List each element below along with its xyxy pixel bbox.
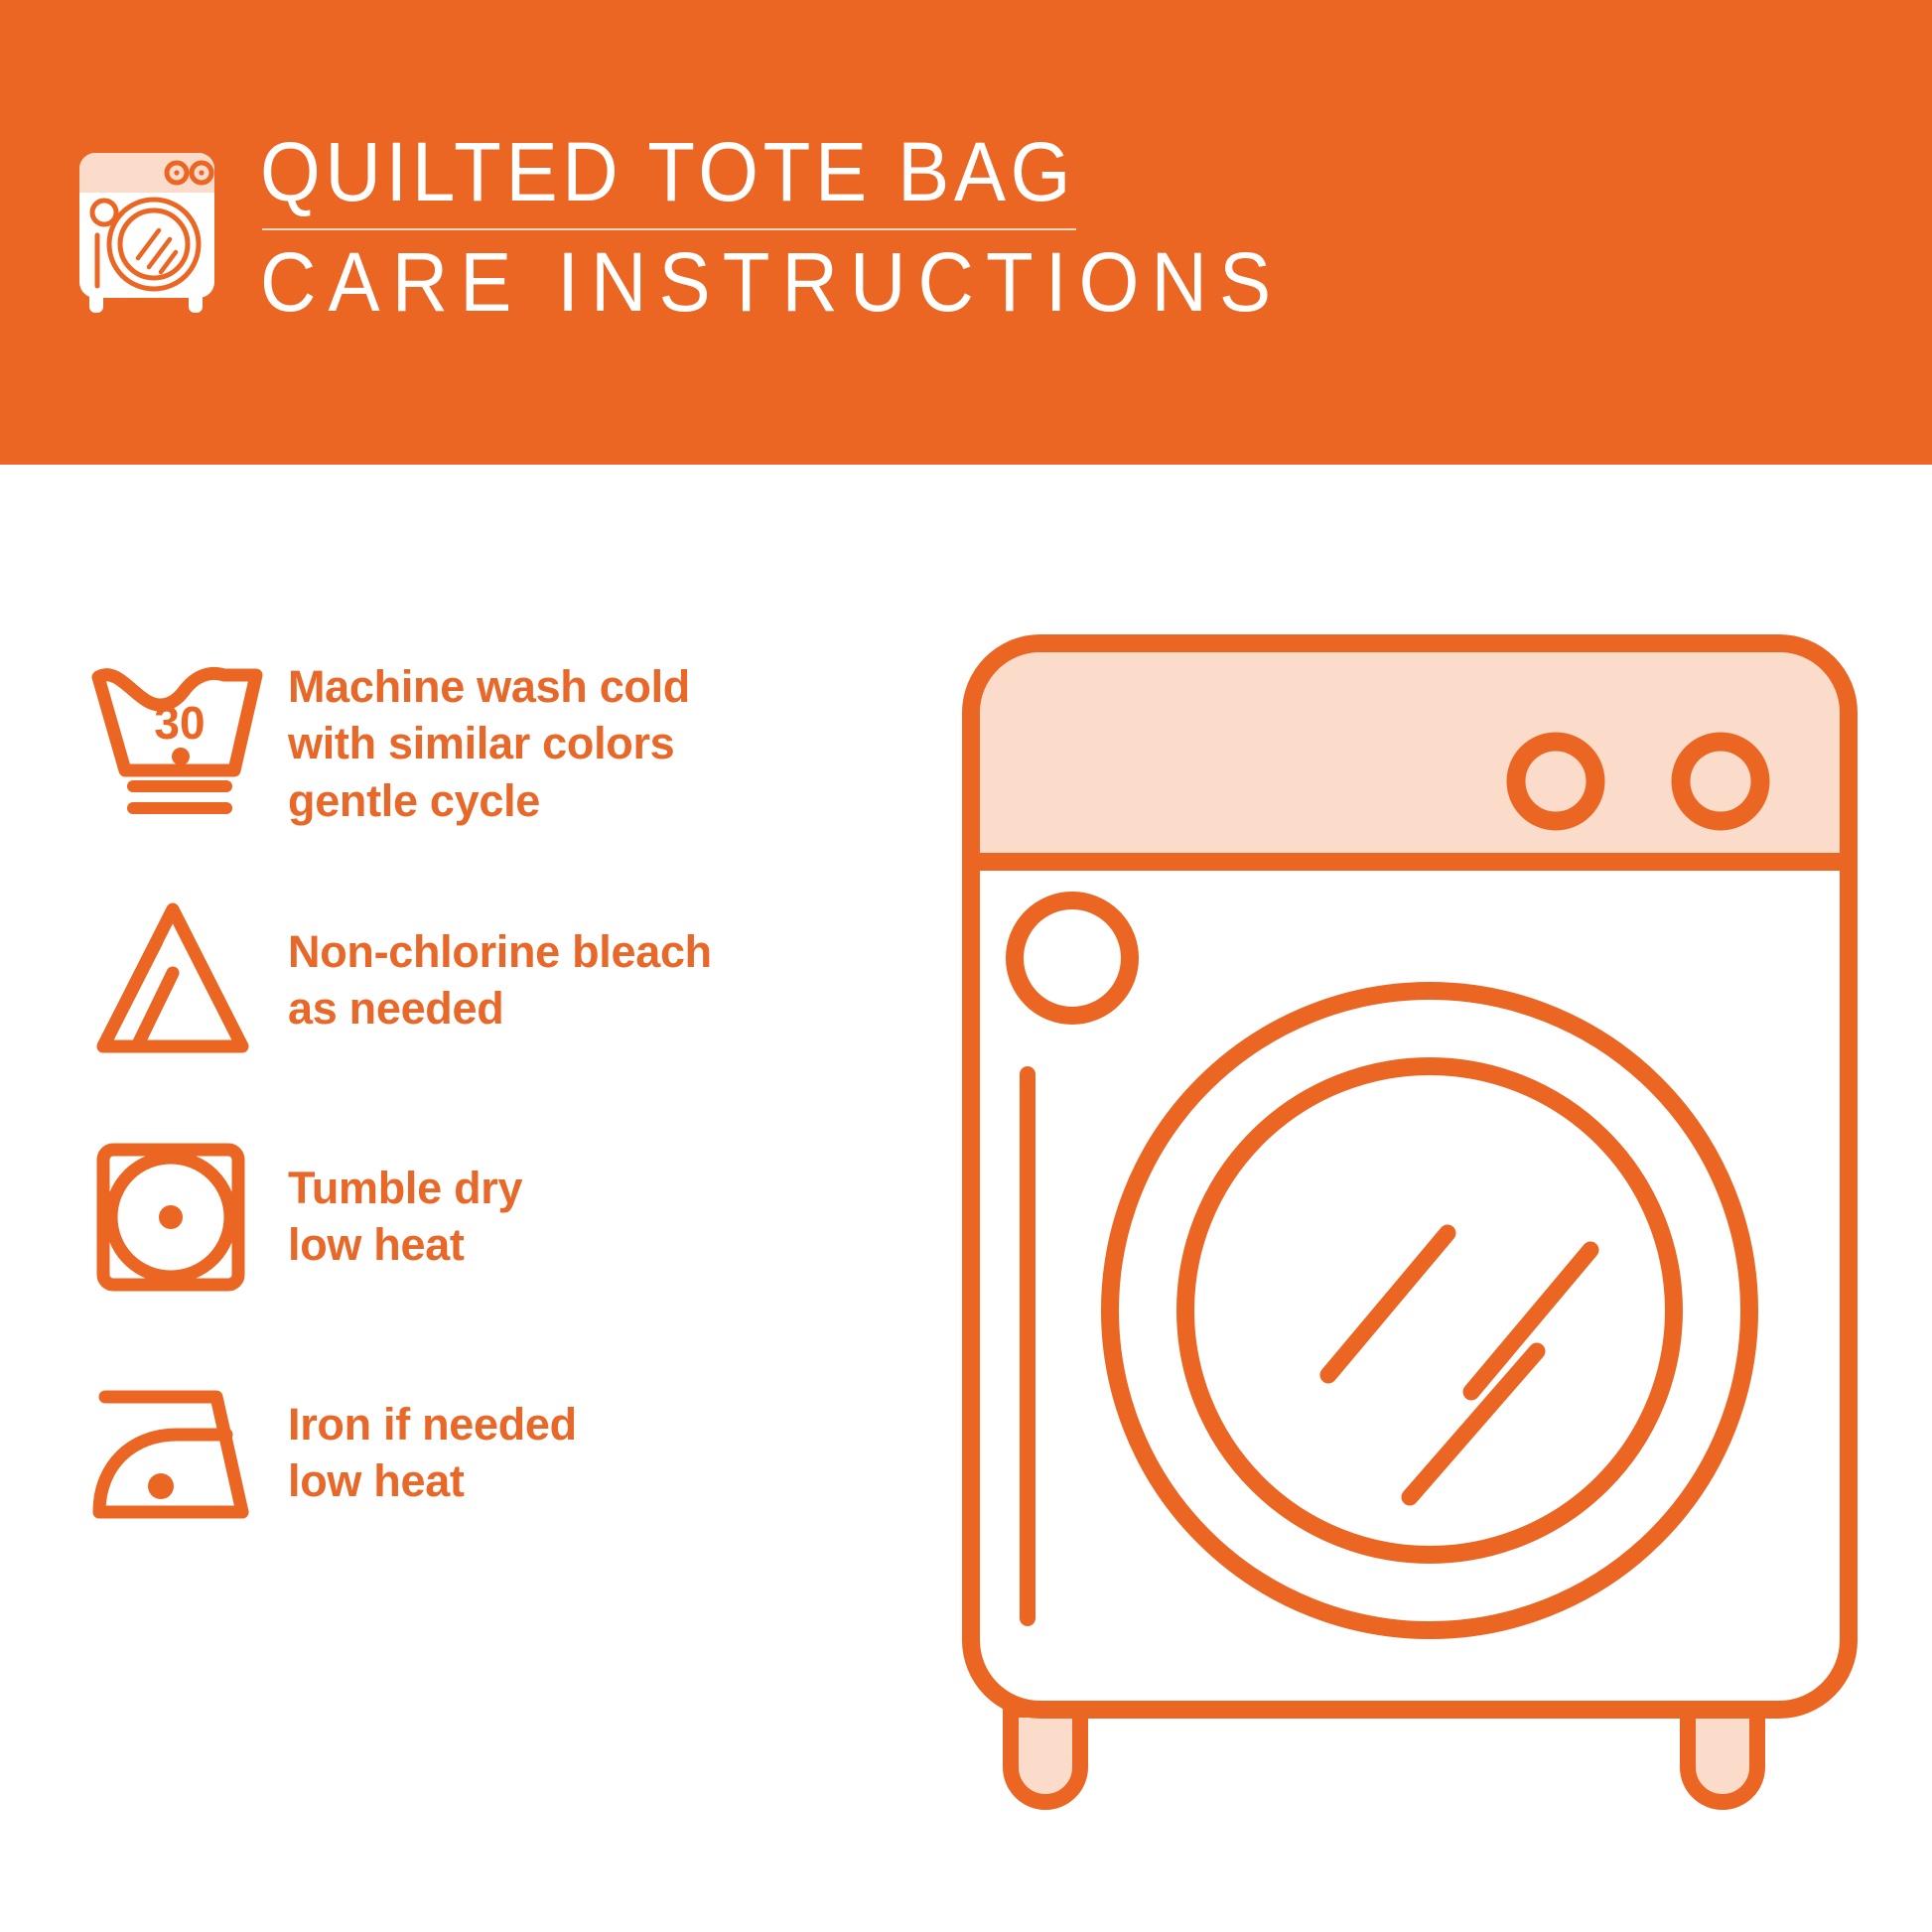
wash-temperature-label: 30 [154,697,205,749]
care-instructions-page: QUILTED TOTE BAG CARE INSTRUCTIONS [0,0,1932,1932]
care-line: Machine wash cold [288,658,690,715]
bleach-triangle-icon [85,896,274,1064]
care-row-iron: Iron if needed low heat [0,1334,894,1571]
iron-icon [85,1373,274,1532]
care-line: gentle cycle [288,772,690,829]
header-banner: QUILTED TOTE BAG CARE INSTRUCTIONS [0,0,1932,465]
care-line: as needed [288,980,712,1036]
care-row-tumble-dry: Tumble dry low heat [0,1098,894,1334]
care-line: Iron if needed [288,1396,577,1452]
washing-machine-icon [71,137,230,321]
care-line: low heat [288,1452,577,1509]
leg-left [1011,1710,1080,1802]
care-icon-slot [85,1373,284,1532]
care-row-bleach: Non-chlorine bleach as needed [0,862,894,1098]
title-divider [262,228,1076,230]
care-instruction-list: 30 Machine wash cold with similar colors… [0,625,894,1571]
page-subtitle: CARE INSTRUCTIONS [260,240,1283,324]
care-text-tumble-dry: Tumble dry low heat [288,1160,522,1273]
wash-tub-30-icon: 30 [85,661,274,826]
page-title: QUILTED TOTE BAG [260,131,1283,212]
care-line: with similar colors [288,715,690,771]
header-content: QUILTED TOTE BAG CARE INSTRUCTIONS [71,127,1360,324]
care-icon-slot [85,1132,284,1301]
title-block: QUILTED TOTE BAG CARE INSTRUCTIONS [260,127,1360,324]
care-row-wash: 30 Machine wash cold with similar colors… [0,625,894,862]
tumble-dry-icon [85,1132,274,1301]
care-line: Tumble dry [288,1160,522,1216]
care-line: low heat [288,1216,522,1273]
care-text-wash: Machine wash cold with similar colors ge… [288,658,690,828]
care-icon-slot: 30 [85,661,284,826]
care-text-bleach: Non-chlorine bleach as needed [288,923,712,1036]
washing-machine-illustration [953,625,1866,1847]
care-text-iron: Iron if needed low heat [288,1396,577,1509]
leg-right [1688,1710,1757,1802]
control-panel [980,652,1840,862]
care-line: Non-chlorine bleach [288,923,712,980]
care-icon-slot [85,896,284,1064]
